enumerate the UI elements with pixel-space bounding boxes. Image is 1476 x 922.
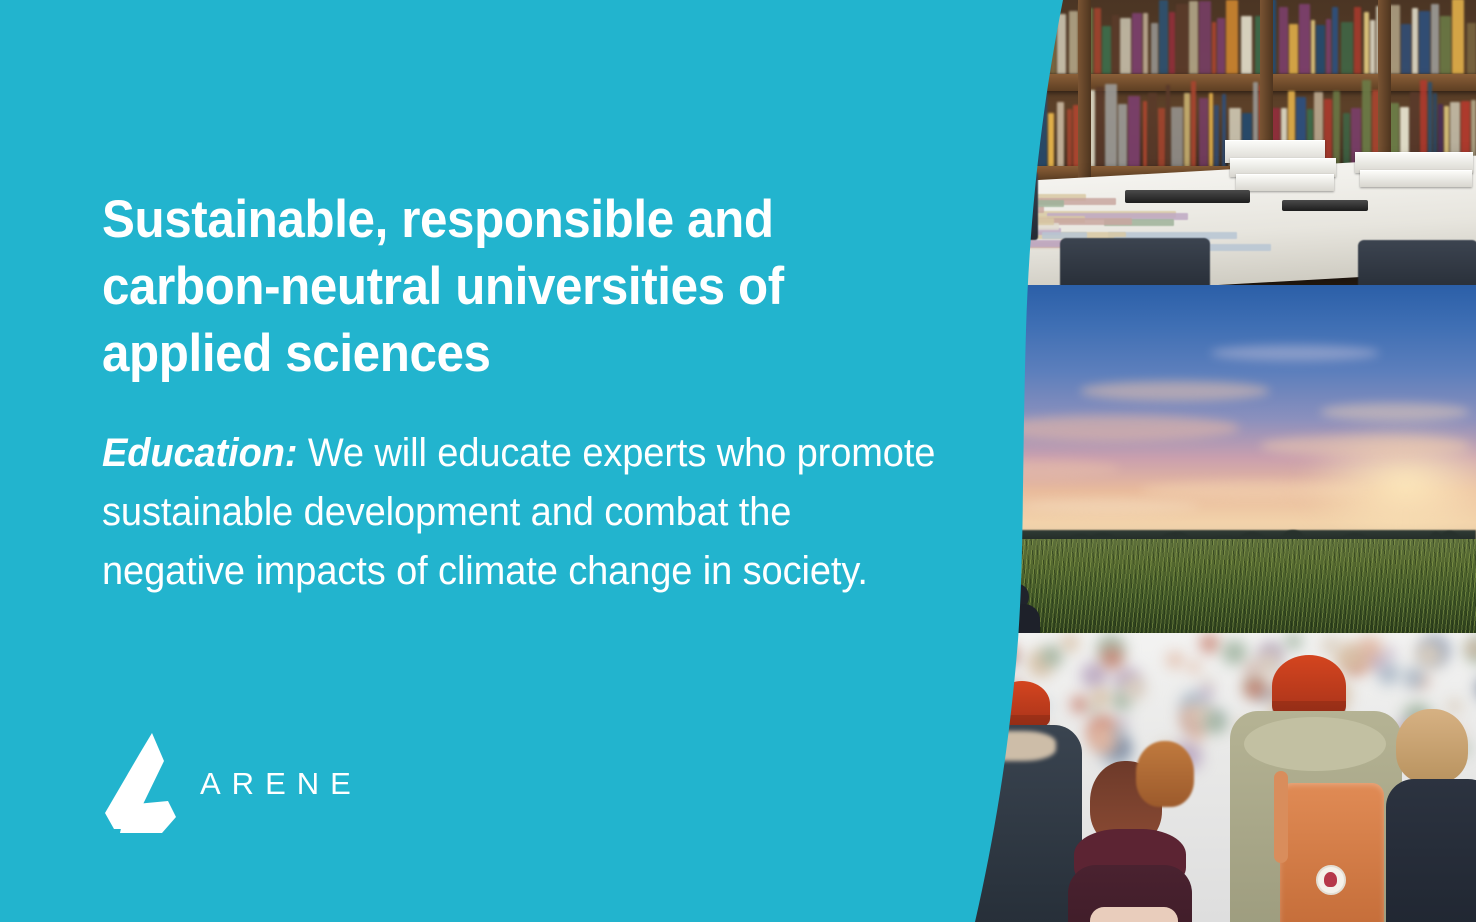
arene-logo-wordmark: ARENE bbox=[200, 768, 362, 799]
text-content: Sustainable, responsible and carbon-neut… bbox=[102, 0, 952, 922]
body-paragraph: Education: We will educate experts who p… bbox=[102, 424, 938, 602]
body-lead-label: Education: bbox=[102, 431, 297, 475]
page-headline: Sustainable, responsible and carbon-neut… bbox=[102, 186, 809, 387]
slide-canvas: Sustainable, responsible and carbon-neut… bbox=[0, 0, 1476, 922]
arene-logo[interactable]: ARENE bbox=[102, 731, 362, 835]
arene-logo-mark-icon bbox=[102, 731, 176, 835]
